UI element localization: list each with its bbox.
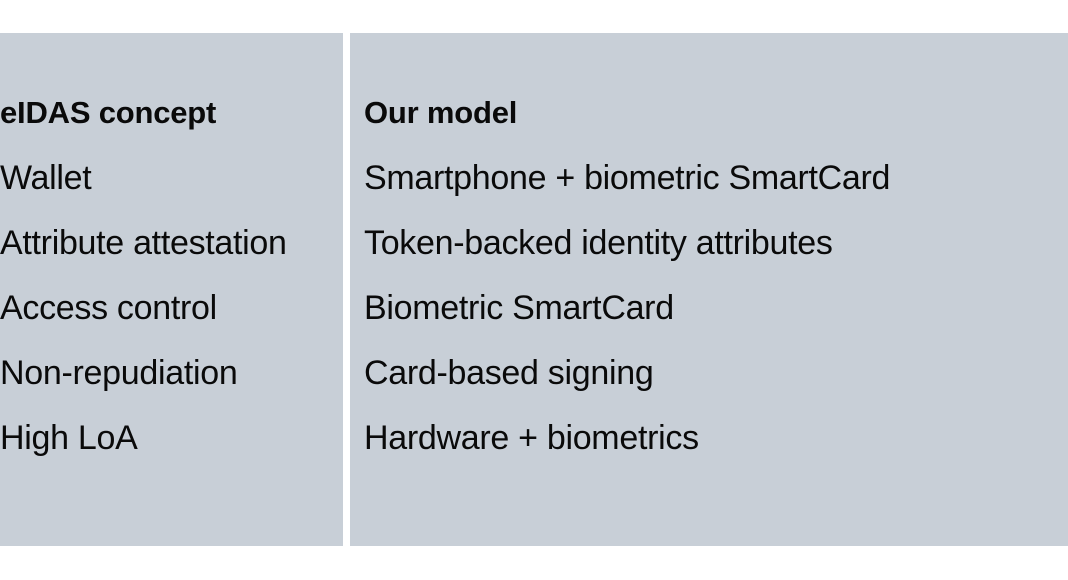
column-header-eidas-concept: eIDAS concept: [0, 80, 343, 145]
cell-value: Attribute attestation: [0, 226, 287, 260]
slide-canvas: eIDAS concept Wallet Attribute attestati…: [0, 0, 1068, 580]
table-column-eidas-concept: eIDAS concept Wallet Attribute attestati…: [0, 33, 343, 546]
table-row: High LoA: [0, 405, 343, 470]
column-content: Our model Smartphone + biometric SmartCa…: [350, 33, 1068, 470]
table-row: Card-based signing: [350, 340, 1068, 405]
table-row: Non-repudiation: [0, 340, 343, 405]
table-row: Biometric SmartCard: [350, 275, 1068, 340]
column-header-label: eIDAS concept: [0, 97, 216, 128]
table-row: Token-backed identity attributes: [350, 210, 1068, 275]
table-column-our-model: Our model Smartphone + biometric SmartCa…: [350, 33, 1068, 546]
comparison-table: eIDAS concept Wallet Attribute attestati…: [0, 33, 1068, 546]
cell-value: Wallet: [0, 161, 91, 195]
column-header-our-model: Our model: [350, 80, 1068, 145]
table-row: Wallet: [0, 145, 343, 210]
cell-value: Non-repudiation: [0, 356, 237, 390]
cell-value: Access control: [0, 291, 217, 325]
cell-value: Hardware + biometrics: [364, 421, 699, 455]
cell-value: High LoA: [0, 421, 137, 455]
table-row: Hardware + biometrics: [350, 405, 1068, 470]
cell-value: Card-based signing: [364, 356, 653, 390]
table-row: Attribute attestation: [0, 210, 343, 275]
cell-value: Token-backed identity attributes: [364, 226, 833, 260]
column-content: eIDAS concept Wallet Attribute attestati…: [0, 33, 343, 470]
table-row: Access control: [0, 275, 343, 340]
cell-value: Biometric SmartCard: [364, 291, 674, 325]
cell-value: Smartphone + biometric SmartCard: [364, 161, 890, 195]
table-row: Smartphone + biometric SmartCard: [350, 145, 1068, 210]
column-header-label: Our model: [364, 97, 517, 128]
